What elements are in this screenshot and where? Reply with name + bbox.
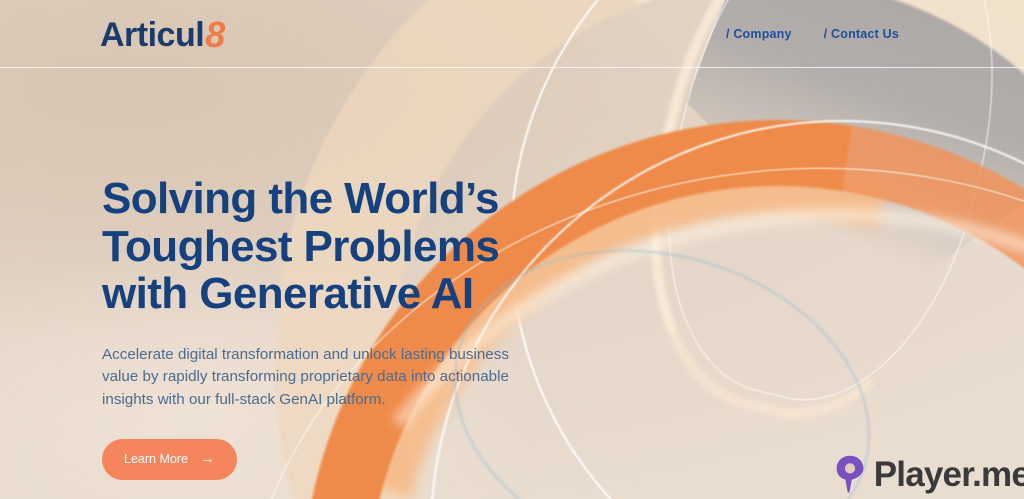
hero-headline: Solving the World’s Toughest Problems wi… — [102, 175, 622, 318]
hero-headline-line-3: with Generative AI — [102, 270, 622, 318]
brand-logo-word: Articul — [100, 18, 204, 52]
hero-subheading-line-3: insights with our full-stack GenAI platf… — [102, 389, 552, 412]
hero-headline-line-2: Toughest Problems — [102, 223, 622, 271]
hero-subheading-line-2: value by rapidly transforming proprietar… — [102, 366, 552, 389]
hero-subheading-line-1: Accelerate digital transformation and un… — [102, 344, 552, 367]
map-pin-icon — [835, 455, 865, 493]
primary-navigation: / Company / Contact Us — [726, 27, 899, 41]
player-me-wordmark: Player.me — [874, 457, 1024, 492]
site-header: Articul 8 / Company / Contact Us — [0, 0, 1024, 68]
brand-logo-numeral-icon: 8 — [205, 17, 225, 53]
learn-more-label: Learn More — [124, 452, 188, 466]
landing-page: Articul 8 / Company / Contact Us Solving… — [0, 0, 1024, 499]
nav-item-company[interactable]: / Company — [726, 27, 792, 41]
hero-section: Solving the World’s Toughest Problems wi… — [102, 175, 622, 480]
hero-subheading: Accelerate digital transformation and un… — [102, 344, 552, 412]
hero-headline-line-1: Solving the World’s — [102, 175, 622, 223]
learn-more-button[interactable]: Learn More → — [102, 439, 237, 480]
player-me-watermark: Player.me — [835, 455, 1024, 493]
brand-logo[interactable]: Articul 8 — [100, 16, 225, 52]
arrow-right-icon: → — [200, 451, 215, 466]
nav-item-contact-us[interactable]: / Contact Us — [824, 27, 899, 41]
